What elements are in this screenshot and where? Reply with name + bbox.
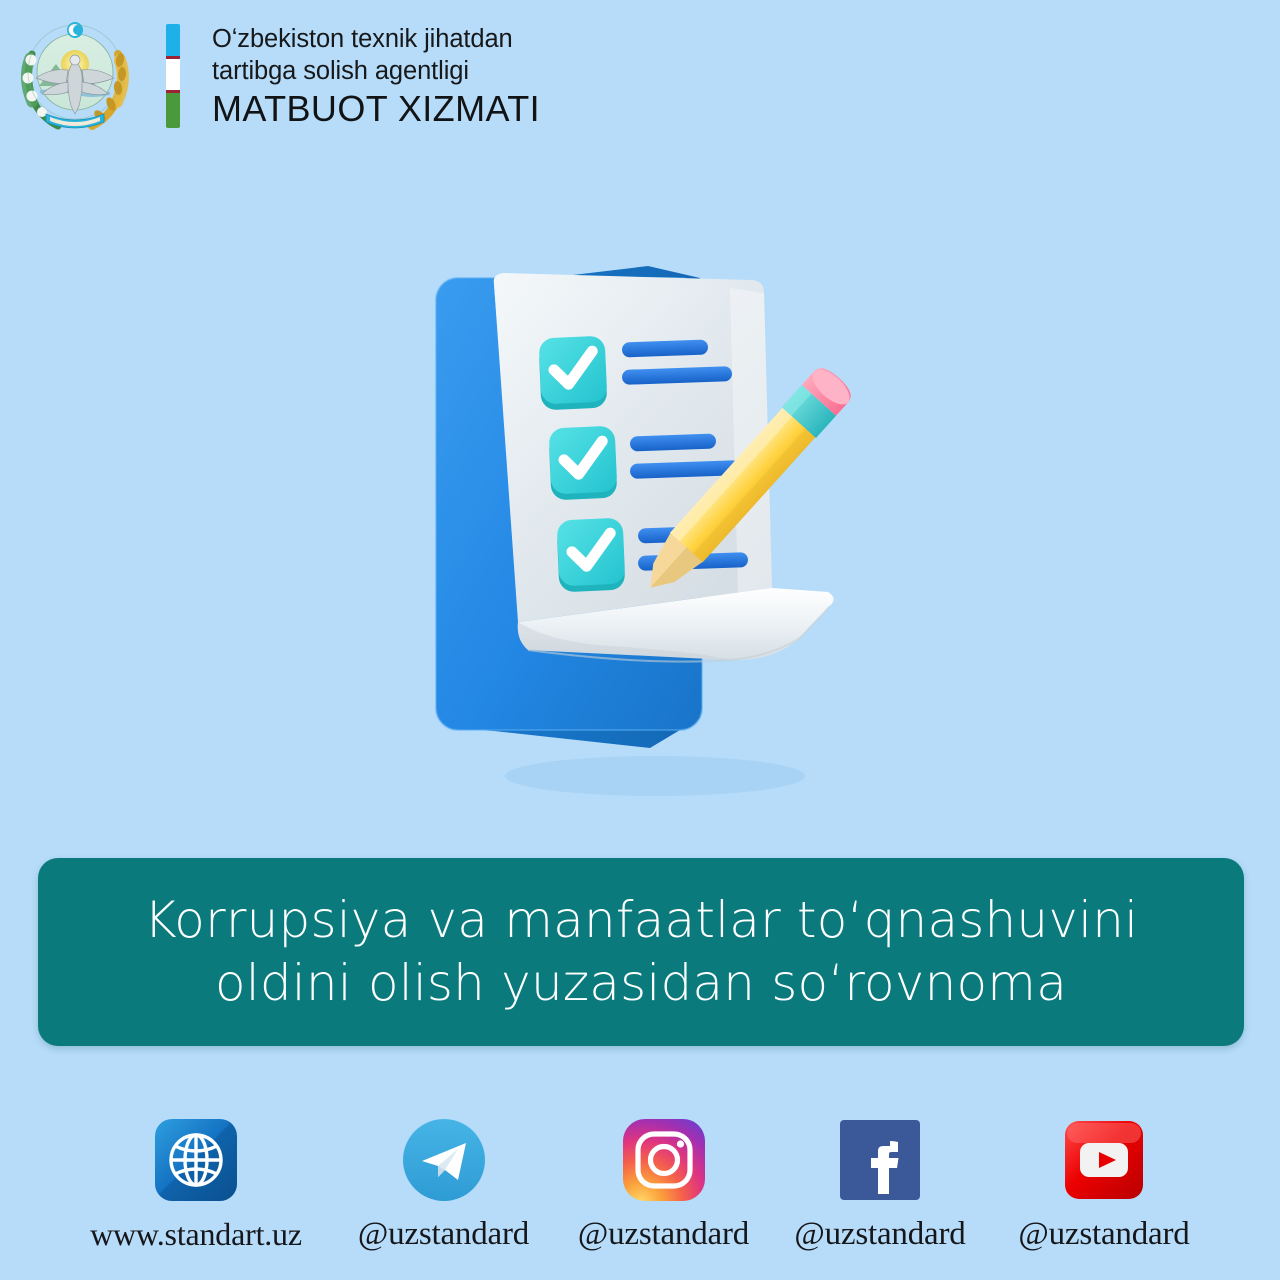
organization-title-block: Oʻzbekiston texnik jihatdan tartibga sol…: [212, 23, 540, 129]
social-label-website: www.standart.uz: [90, 1216, 302, 1253]
org-name-line-1: Oʻzbekiston texnik jihatdan: [212, 23, 540, 55]
flag-stripe-green: [166, 93, 180, 128]
banner-title-line-1: Korrupsiya va manfaatlar toʻqnashuvini: [144, 889, 1138, 952]
social-link-youtube[interactable]: @uzstandard: [989, 1118, 1219, 1253]
flag-stripe-blue: [166, 24, 180, 56]
youtube-icon[interactable]: [1062, 1118, 1146, 1202]
social-label-telegram: @uzstandard: [358, 1216, 529, 1253]
social-link-website[interactable]: www.standart.uz: [61, 1118, 331, 1253]
title-banner: Korrupsiya va manfaatlar toʻqnashuvini o…: [38, 858, 1244, 1046]
clipboard-checklist-with-pencil-illustration: [400, 248, 900, 818]
department-name: MATBUOT XIZMATI: [212, 89, 540, 129]
social-link-facebook[interactable]: @uzstandard: [771, 1118, 989, 1253]
telegram-icon[interactable]: [402, 1118, 486, 1202]
banner-title-line-2: oldini olish yuzasidan soʻrovnoma: [215, 952, 1067, 1015]
flag-stripe-white: [166, 59, 180, 89]
social-link-instagram[interactable]: @uzstandard: [556, 1118, 771, 1253]
social-link-telegram[interactable]: @uzstandard: [331, 1118, 556, 1253]
social-label-facebook: @uzstandard: [794, 1216, 965, 1253]
globe-website-icon[interactable]: [154, 1118, 238, 1202]
uzbekistan-flag-bar-icon: [166, 24, 180, 128]
facebook-icon[interactable]: [838, 1118, 922, 1202]
uzbekistan-coat-of-arms-icon: [16, 14, 134, 138]
instagram-icon[interactable]: [622, 1118, 706, 1202]
social-label-youtube: @uzstandard: [1018, 1216, 1189, 1253]
social-label-instagram: @uzstandard: [578, 1216, 749, 1253]
social-links-row: www.standart.uz @uzstandard: [0, 1118, 1280, 1278]
page-header: Oʻzbekiston texnik jihatdan tartibga sol…: [16, 14, 540, 138]
org-name-line-2: tartibga solish agentligi: [212, 55, 540, 87]
